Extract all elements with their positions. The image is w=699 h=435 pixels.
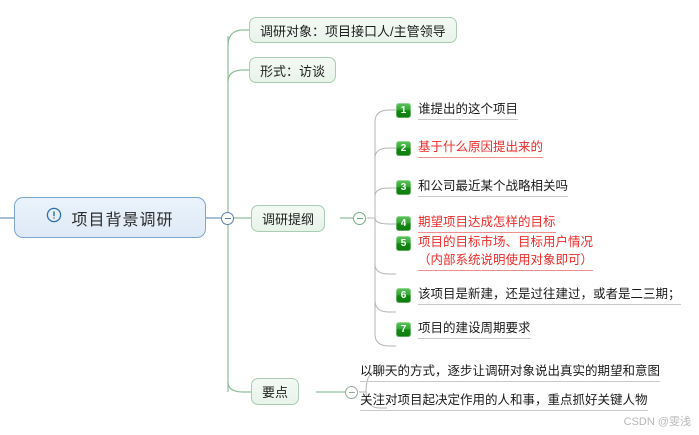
branch-node-form[interactable]: 形式：访谈 bbox=[249, 57, 336, 83]
item-number-badge: 5 bbox=[396, 236, 411, 251]
item-text: 期望项目达成怎样的目标 bbox=[418, 214, 556, 233]
item-text: 和公司最近某个战略相关吗 bbox=[418, 178, 568, 197]
outline-item-2[interactable]: 2 基于什么原因提出来的 bbox=[396, 139, 543, 158]
branch-node-outline[interactable]: 调研提纲 bbox=[251, 205, 325, 232]
item-text: 项目的建设周期要求 bbox=[418, 320, 531, 339]
outline-item-4[interactable]: 4 期望项目达成怎样的目标 bbox=[396, 214, 556, 233]
outline-item-7[interactable]: 7 项目的建设周期要求 bbox=[396, 320, 531, 339]
item-number-badge: 7 bbox=[396, 322, 411, 337]
outline-item-1[interactable]: 1 谁提出的这个项目 bbox=[396, 101, 518, 120]
item-number-badge: 4 bbox=[396, 216, 411, 231]
item-number-badge: 2 bbox=[396, 141, 411, 156]
item-text: 基于什么原因提出来的 bbox=[418, 139, 543, 158]
exclamation-circle-icon bbox=[46, 207, 62, 228]
item-text: 项目的目标市场、目标用户情况 （内部系统说明使用对象即可） bbox=[418, 234, 593, 271]
item-number-badge: 1 bbox=[396, 103, 411, 118]
branch-node-object[interactable]: 调研对象：项目接口人/主管领导 bbox=[249, 17, 457, 43]
points-item-2[interactable]: 关注对项目起决定作用的人和事，重点抓好关键人物 bbox=[360, 389, 648, 411]
collapse-toggle-points[interactable] bbox=[345, 386, 358, 399]
branch-node-points[interactable]: 要点 bbox=[251, 378, 299, 405]
branch-label-form: 形式：访谈 bbox=[260, 61, 325, 80]
root-node[interactable]: 项目背景调研 bbox=[14, 197, 206, 238]
watermark: CSDN @雯浅 bbox=[624, 413, 691, 429]
mindmap-canvas: 项目背景调研 调研对象：项目接口人/主管领导 形式：访谈 调研提纲 要点 1 谁… bbox=[0, 0, 699, 435]
branch-label-points: 要点 bbox=[262, 382, 288, 401]
outline-item-6[interactable]: 6 该项目是新建，还是过往建过，或者是二三期； bbox=[396, 286, 681, 305]
item-text: 该项目是新建，还是过往建过，或者是二三期； bbox=[418, 286, 681, 305]
item-number-badge: 3 bbox=[396, 180, 411, 195]
outline-item-3[interactable]: 3 和公司最近某个战略相关吗 bbox=[396, 178, 568, 197]
collapse-toggle-outline[interactable] bbox=[353, 212, 366, 225]
outline-item-5[interactable]: 5 项目的目标市场、目标用户情况 （内部系统说明使用对象即可） bbox=[396, 234, 593, 271]
root-label: 项目背景调研 bbox=[71, 206, 173, 230]
collapse-toggle-root[interactable] bbox=[221, 212, 234, 225]
branch-label-outline: 调研提纲 bbox=[262, 209, 314, 228]
branch-label-object: 调研对象：项目接口人/主管领导 bbox=[260, 21, 446, 40]
item-text: 谁提出的这个项目 bbox=[418, 101, 518, 120]
item-number-badge: 6 bbox=[396, 288, 411, 303]
points-item-1[interactable]: 以聊天的方式，逐步让调研对象说出真实的期望和意图 bbox=[360, 360, 660, 382]
